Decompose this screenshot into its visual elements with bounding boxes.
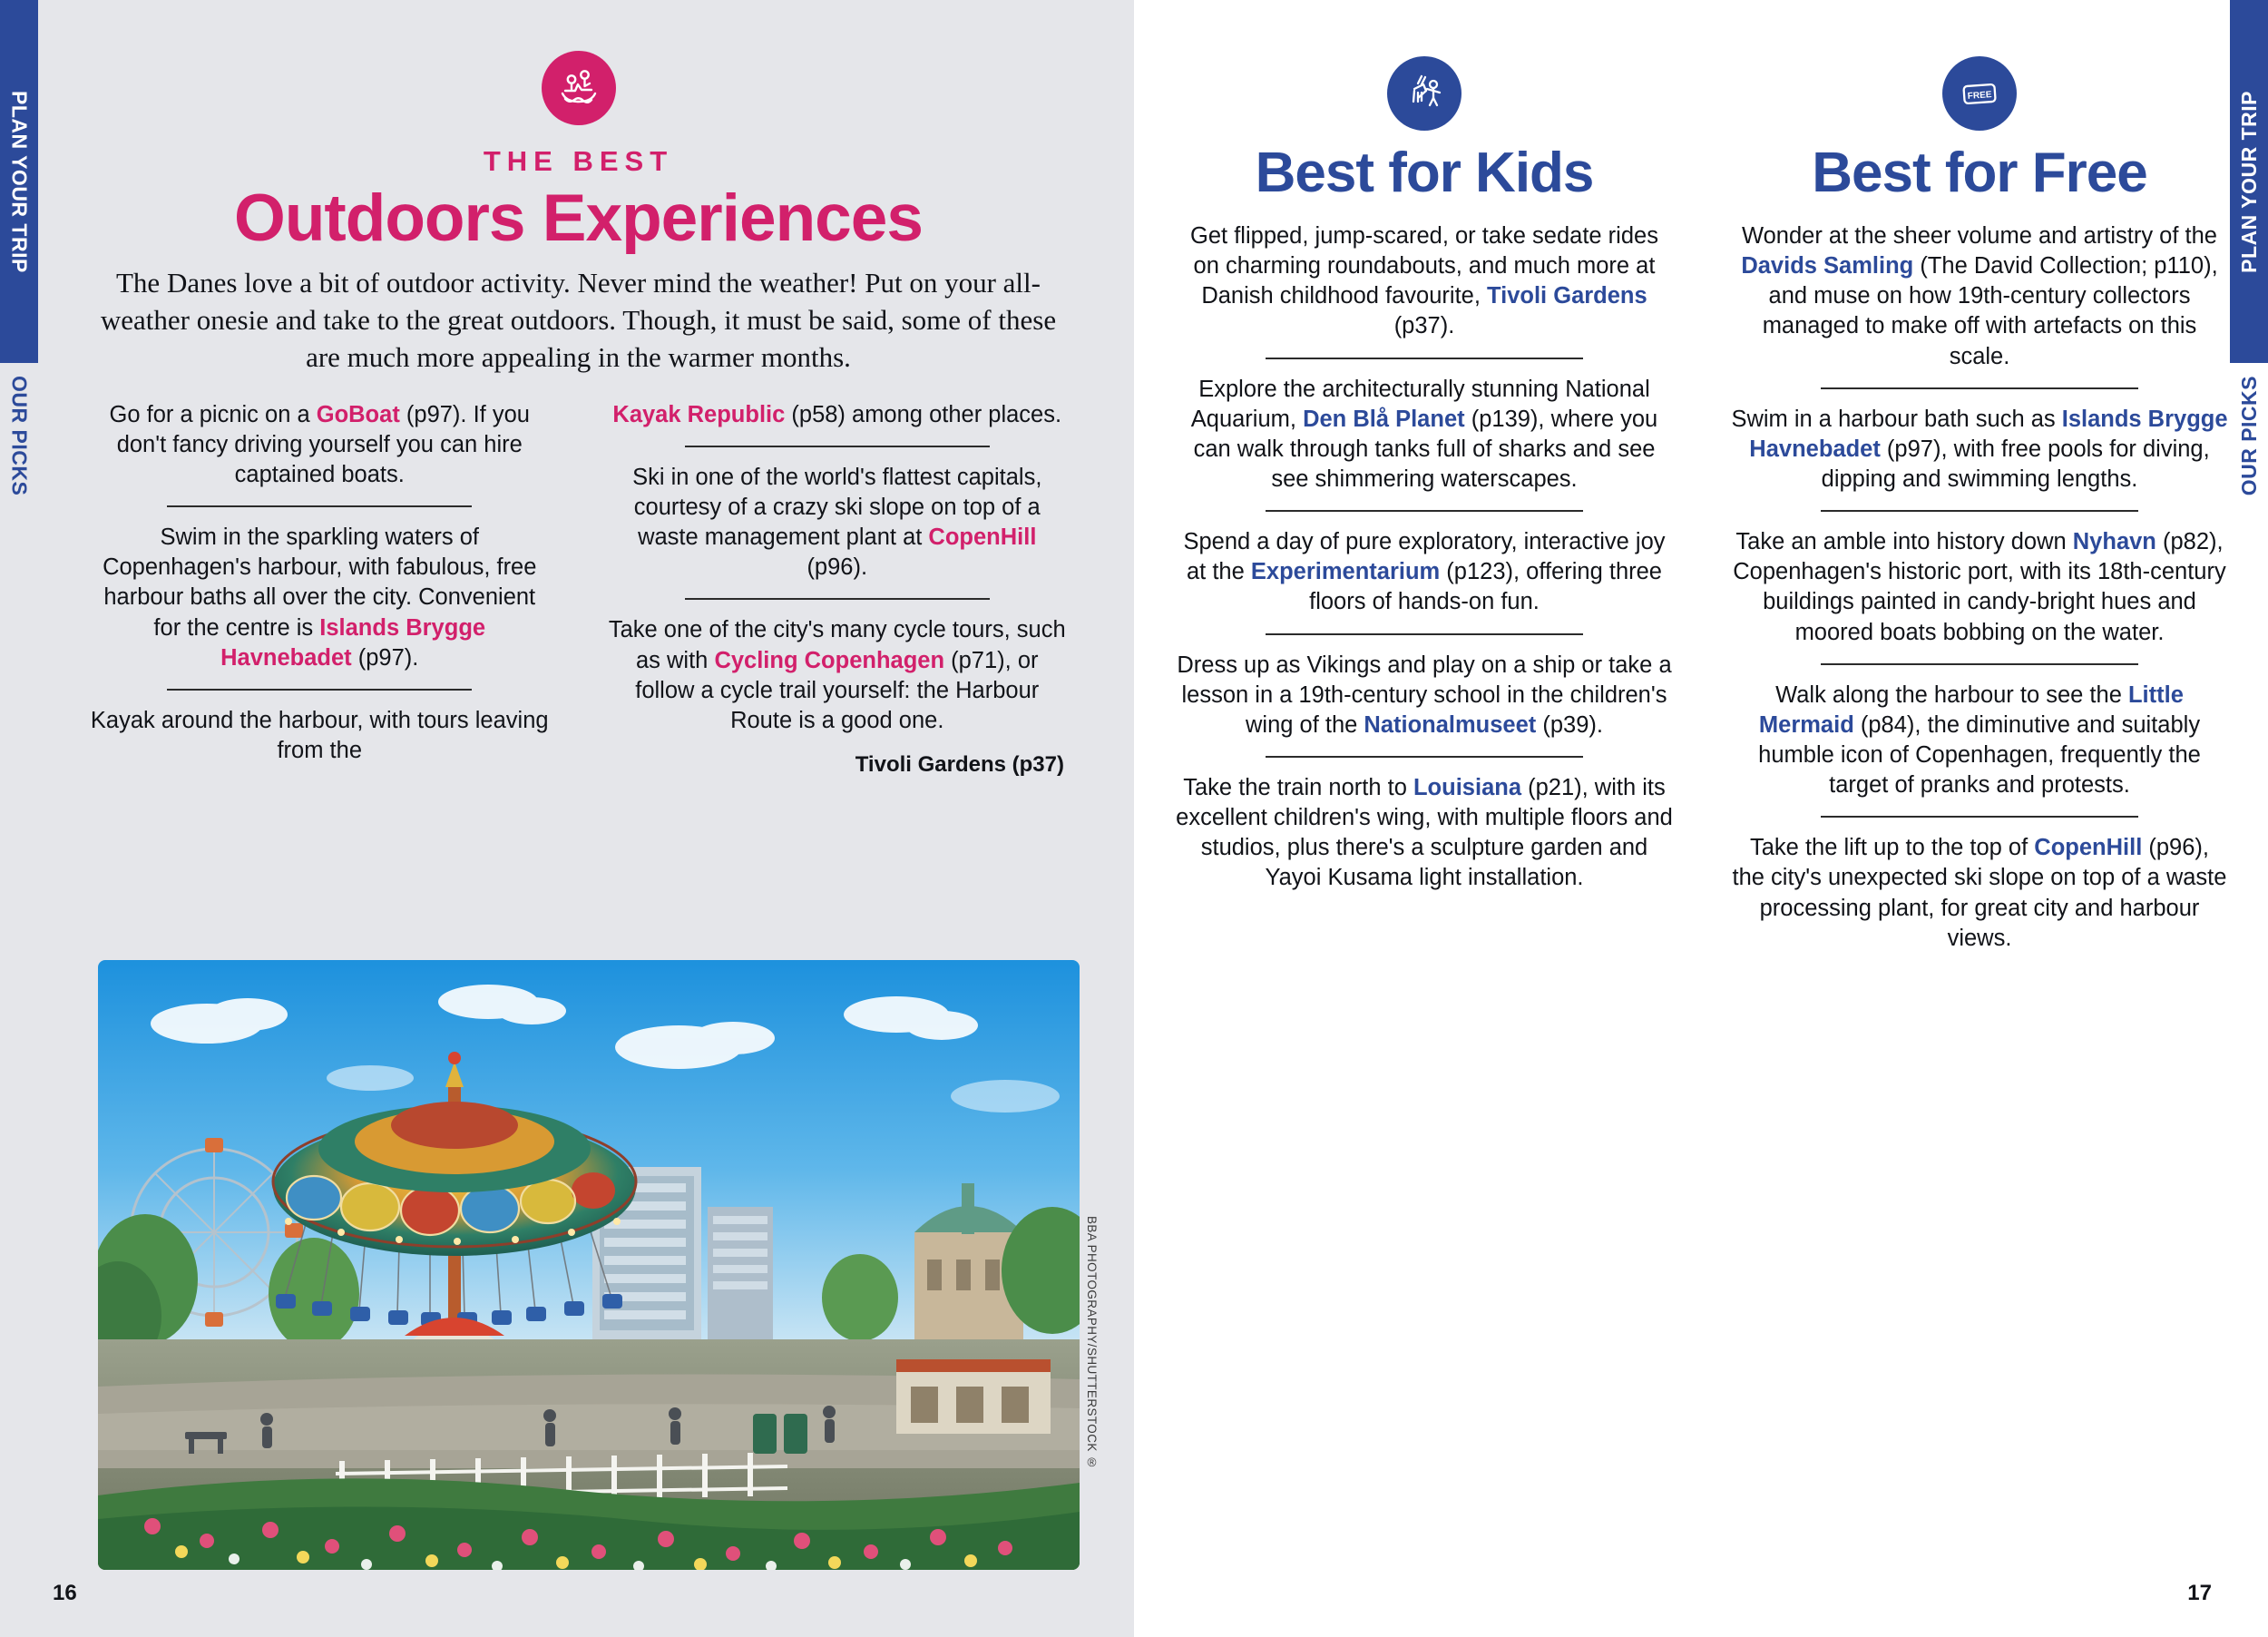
tip-item: Walk along the harbour to see the Little… <box>1731 681 2228 801</box>
tip-text-post: (p97). <box>352 645 419 671</box>
section-title-free: Best for Free <box>1731 145 2228 201</box>
tip-text-post: (p96). <box>807 554 867 580</box>
tip-text-pre: Take the train north to <box>1183 775 1413 800</box>
tip-text-pre: Swim in a harbour bath such as <box>1731 407 2061 432</box>
tab-plan-your-trip-label: PLAN YOUR TRIP <box>2237 91 2262 273</box>
tips-column-two: Kayak Republic (p58) among other places.… <box>607 400 1069 778</box>
child-pinata-icon <box>1387 56 1461 131</box>
svg-text:FREE: FREE <box>1967 90 1992 102</box>
tip-link[interactable]: Kayak Republic <box>612 402 785 427</box>
tab-our-picks[interactable]: OUR PICKS <box>0 363 38 608</box>
left-tips-columns: Go for a picnic on a GoBoat (p97). If yo… <box>82 400 1075 778</box>
tip-link[interactable]: GoBoat <box>317 402 400 427</box>
tip-text-pre: Take the lift up to the top of <box>1750 835 2034 860</box>
tip-divider <box>685 598 990 600</box>
tip-text-post: (p58) among other places. <box>785 402 1061 427</box>
tip-item: Ski in one of the world's flattest capit… <box>607 463 1069 583</box>
tip-link[interactable]: Nyhavn <box>2073 529 2156 554</box>
tip-item: Spend a day of pure exploratory, interac… <box>1176 527 1673 617</box>
tip-link[interactable]: Nationalmuseet <box>1364 712 1536 738</box>
tip-divider <box>167 689 472 691</box>
section-title-kids: Best for Kids <box>1176 145 1673 201</box>
kayak-boat-icon <box>542 51 616 125</box>
eyebrow-the-best: THE BEST <box>82 145 1075 178</box>
tip-item: Take the train north to Louisiana (p21),… <box>1176 773 1673 894</box>
tip-link[interactable]: Tivoli Gardens <box>1487 283 1647 309</box>
tip-divider <box>1266 510 1584 512</box>
left-edge-tab-strip: PLAN YOUR TRIP OUR PICKS <box>0 0 38 1637</box>
kids-tip-list: Get flipped, jump-scared, or take sedate… <box>1176 221 1673 894</box>
tip-item: Swim in a harbour bath such as Islands B… <box>1731 405 2228 495</box>
intro-paragraph: The Danes love a bit of outdoor activity… <box>82 264 1075 377</box>
tip-item: Explore the architecturally stunning Nat… <box>1176 375 1673 495</box>
tip-item: Dress up as Vikings and play on a ship o… <box>1176 651 1673 740</box>
tip-text-pre: Kayak around the harbour, with tours lea… <box>91 708 549 763</box>
tip-item: Wonder at the sheer volume and artistry … <box>1731 221 2228 372</box>
right-page-content: Best for Kids Get flipped, jump-scared, … <box>1176 0 2228 1637</box>
photo-illustration <box>98 960 1080 1570</box>
tip-text-pre: Take an amble into history down <box>1735 529 2072 554</box>
tip-divider <box>1266 358 1584 359</box>
right-edge-tab-strip: PLAN YOUR TRIP OUR PICKS <box>2230 0 2268 1637</box>
tip-text-pre: Walk along the harbour to see the <box>1775 682 2128 708</box>
tip-link[interactable]: Davids Samling <box>1741 253 1913 279</box>
tip-divider <box>1821 387 2139 389</box>
tip-item: Kayak Republic (p58) among other places. <box>607 400 1069 430</box>
tip-item: Get flipped, jump-scared, or take sedate… <box>1176 221 1673 342</box>
folio-page-number-left: 16 <box>53 1581 77 1606</box>
book-spread: PLAN YOUR TRIP OUR PICKS THE BEST <box>0 0 2268 1637</box>
tip-link[interactable]: CopenHill <box>928 524 1036 550</box>
tip-link[interactable]: Den Blå Planet <box>1303 407 1465 432</box>
tab-our-picks[interactable]: OUR PICKS <box>2230 363 2268 608</box>
photo-credit: BBA PHOTOGRAPHY/SHUTTERSTOCK ® <box>1085 1216 1099 1469</box>
tip-item: Swim in the sparkling waters of Copenhag… <box>89 523 551 673</box>
tab-our-picks-label: OUR PICKS <box>7 376 32 495</box>
tip-divider <box>1266 633 1584 635</box>
folio-page-number-right: 17 <box>2187 1581 2212 1606</box>
right-page: PLAN YOUR TRIP OUR PICKS <box>1134 0 2268 1637</box>
tip-text-pre: Go for a picnic on a <box>110 402 317 427</box>
tip-link[interactable]: CopenHill <box>2034 835 2142 860</box>
tab-plan-your-trip[interactable]: PLAN YOUR TRIP <box>2230 0 2268 363</box>
tip-divider <box>1266 756 1584 758</box>
tivoli-gardens-photo <box>98 960 1080 1570</box>
tip-item: Take an amble into history down Nyhavn (… <box>1731 527 2228 648</box>
tip-item: Take the lift up to the top of CopenHill… <box>1731 833 2228 954</box>
tip-divider <box>1821 663 2139 665</box>
tab-plan-your-trip[interactable]: PLAN YOUR TRIP <box>0 0 38 363</box>
tip-item: Kayak around the harbour, with tours lea… <box>89 706 551 766</box>
tip-divider <box>1821 816 2139 818</box>
tip-item: Go for a picnic on a GoBoat (p97). If yo… <box>89 400 551 490</box>
tab-plan-your-trip-label: PLAN YOUR TRIP <box>7 91 32 273</box>
tab-our-picks-label: OUR PICKS <box>2237 376 2262 495</box>
tip-text-pre: Wonder at the sheer volume and artistry … <box>1742 223 2217 249</box>
photo-caption: Tivoli Gardens (p37) <box>607 752 1069 778</box>
page-title: Outdoors Experiences <box>82 185 1075 251</box>
tip-divider <box>685 446 990 447</box>
tips-column-one: Go for a picnic on a GoBoat (p97). If yo… <box>89 400 551 778</box>
section-best-for-free: FREE Best for Free Wonder at the sheer v… <box>1731 56 2228 1637</box>
free-tip-list: Wonder at the sheer volume and artistry … <box>1731 221 2228 954</box>
tip-item: Take one of the city's many cycle tours,… <box>607 615 1069 736</box>
free-badge-icon: FREE <box>1942 56 2017 131</box>
tip-link[interactable]: Louisiana <box>1413 775 1521 800</box>
tip-link[interactable]: Cycling Copenhagen <box>714 648 944 673</box>
section-best-for-kids: Best for Kids Get flipped, jump-scared, … <box>1176 56 1673 1637</box>
tip-divider <box>1821 510 2139 512</box>
tip-text-post: (p39). <box>1536 712 1603 738</box>
tip-text-post: (p37). <box>1394 313 1455 338</box>
tip-link[interactable]: Experimentarium <box>1251 559 1440 584</box>
tip-divider <box>167 505 472 507</box>
left-page: PLAN YOUR TRIP OUR PICKS THE BEST <box>0 0 1134 1637</box>
